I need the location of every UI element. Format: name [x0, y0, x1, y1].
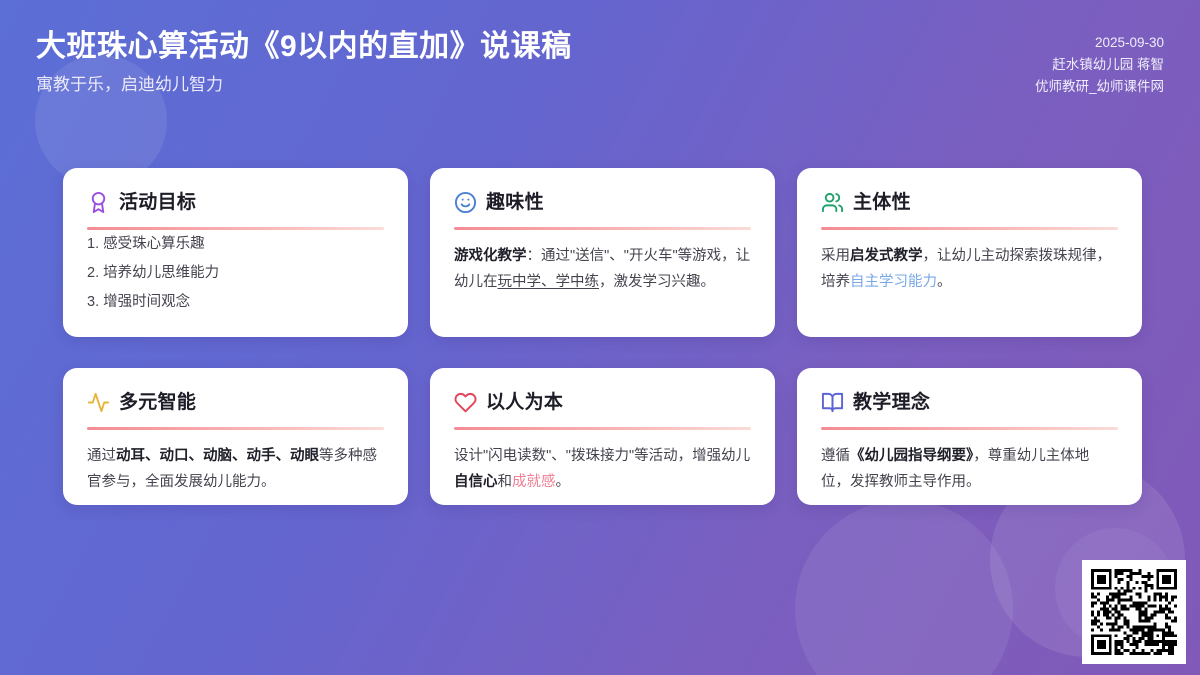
list-item: 1. 感受珠心算乐趣 [87, 230, 384, 259]
list-item: 2. 培养幼儿思维能力 [87, 259, 384, 288]
page-subtitle: 寓教于乐，启迪幼儿智力 [36, 74, 572, 96]
qr-code[interactable] [1082, 560, 1186, 664]
decorative-circle [795, 500, 1013, 675]
award-icon [87, 191, 110, 214]
card-body: 通过动耳、动口、动脑、动手、动眼等多种感官参与，全面发展幼儿能力。 [87, 443, 384, 496]
card-divider [821, 227, 1118, 230]
meta-author: 赶水镇幼儿园 蒋智 [1035, 54, 1164, 76]
card-title: 以人为本 [486, 393, 563, 412]
heart-icon [454, 391, 477, 414]
users-icon [821, 191, 844, 214]
card-title: 多元智能 [119, 393, 196, 412]
card-divider [821, 427, 1118, 430]
meta-date: 2025-09-30 [1035, 32, 1164, 54]
card-body: 采用启发式教学，让幼儿主动探索拨珠规律，培养自主学习能力。 [821, 243, 1118, 296]
slide-header: 大班珠心算活动《9以内的直加》说课稿 寓教于乐，启迪幼儿智力 2025-09-3… [0, 0, 1200, 140]
card-header: 教学理念 [821, 388, 1118, 416]
card-body: 遵循《幼儿园指导纲要》，尊重幼儿主体地位，发挥教师主导作用。 [821, 443, 1118, 496]
card-header: 多元智能 [87, 388, 384, 416]
goal-list: 1. 感受珠心算乐趣 2. 培养幼儿思维能力 3. 增强时间观念 [87, 230, 384, 317]
card-title: 趣味性 [486, 193, 544, 212]
smile-icon [454, 191, 477, 214]
card-divider [454, 227, 751, 230]
card-fun[interactable]: 趣味性 游戏化教学：通过"送信"、"开火车"等游戏，让幼儿在玩中学、学中练，激发… [430, 168, 775, 337]
card-header: 活动目标 [87, 188, 384, 216]
meta-source: 优师教研_幼师课件网 [1035, 76, 1164, 98]
card-multiple-intelligences[interactable]: 多元智能 通过动耳、动口、动脑、动手、动眼等多种感官参与，全面发展幼儿能力。 [63, 368, 408, 505]
header-meta-block: 2025-09-30 赶水镇幼儿园 蒋智 优师教研_幼师课件网 [1035, 0, 1164, 98]
list-item: 3. 增强时间观念 [87, 288, 384, 317]
qr-code-image [1088, 566, 1180, 658]
card-header: 趣味性 [454, 188, 751, 216]
card-grid: 活动目标 1. 感受珠心算乐趣 2. 培养幼儿思维能力 3. 增强时间观念 [63, 168, 1137, 505]
card-header: 以人为本 [454, 388, 751, 416]
header-title-block: 大班珠心算活动《9以内的直加》说课稿 寓教于乐，启迪幼儿智力 [36, 0, 572, 96]
card-teaching-philosophy[interactable]: 教学理念 遵循《幼儿园指导纲要》，尊重幼儿主体地位，发挥教师主导作用。 [797, 368, 1142, 505]
card-divider [87, 427, 384, 430]
card-activity-goals[interactable]: 活动目标 1. 感受珠心算乐趣 2. 培养幼儿思维能力 3. 增强时间观念 [63, 168, 408, 337]
card-body: 设计"闪电读数"、"拨珠接力"等活动，增强幼儿自信心和成就感。 [454, 443, 751, 496]
card-header: 主体性 [821, 188, 1118, 216]
activity-pulse-icon [87, 391, 110, 414]
card-people-oriented[interactable]: 以人为本 设计"闪电读数"、"拨珠接力"等活动，增强幼儿自信心和成就感。 [430, 368, 775, 505]
card-title: 活动目标 [119, 193, 196, 212]
slide-root: 大班珠心算活动《9以内的直加》说课稿 寓教于乐，启迪幼儿智力 2025-09-3… [0, 0, 1200, 675]
card-body: 游戏化教学：通过"送信"、"开火车"等游戏，让幼儿在玩中学、学中练，激发学习兴趣… [454, 243, 751, 296]
card-subjectivity[interactable]: 主体性 采用启发式教学，让幼儿主动探索拨珠规律，培养自主学习能力。 [797, 168, 1142, 337]
card-title: 主体性 [853, 193, 911, 212]
book-icon [821, 391, 844, 414]
page-title: 大班珠心算活动《9以内的直加》说课稿 [36, 28, 572, 66]
card-title: 教学理念 [853, 393, 930, 412]
card-divider [454, 427, 751, 430]
